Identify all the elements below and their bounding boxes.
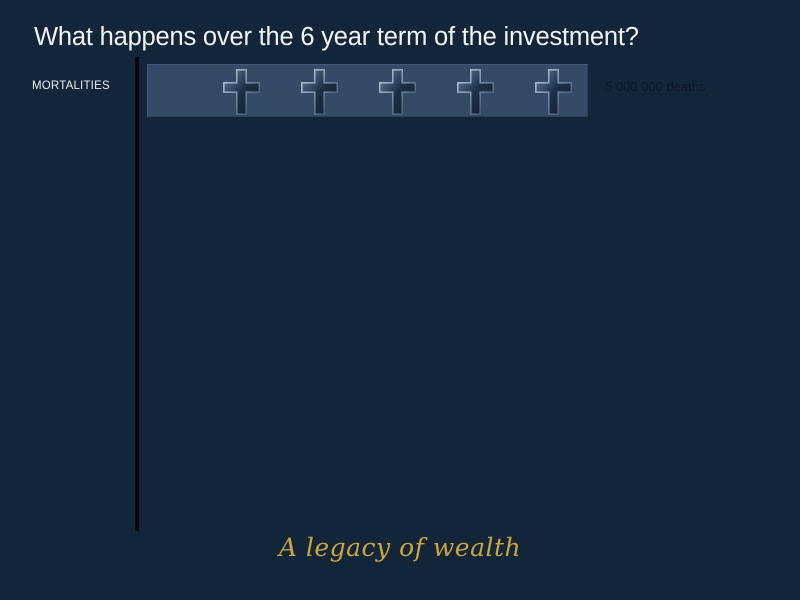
chart-row-label-mortalities: MORTALITIES xyxy=(32,80,130,93)
chart-row-mortalities: MORTALITIES xyxy=(0,64,800,118)
chart-bar-mortalities xyxy=(147,64,588,117)
chart-row-value-mortalities: 5 000 000 deaths xyxy=(605,79,705,95)
cross-icon xyxy=(532,66,575,118)
cross-icon xyxy=(376,66,419,118)
cross-icon xyxy=(454,66,497,118)
chart-axis-line xyxy=(135,57,139,531)
footer-tagline: A legacy of wealth xyxy=(0,532,800,564)
slide-canvas: What happens over the 6 year term of the… xyxy=(0,0,800,600)
page-title: What happens over the 6 year term of the… xyxy=(34,22,764,52)
pictogram-group xyxy=(220,65,580,118)
cross-icon xyxy=(298,66,341,118)
cross-icon xyxy=(220,66,263,118)
